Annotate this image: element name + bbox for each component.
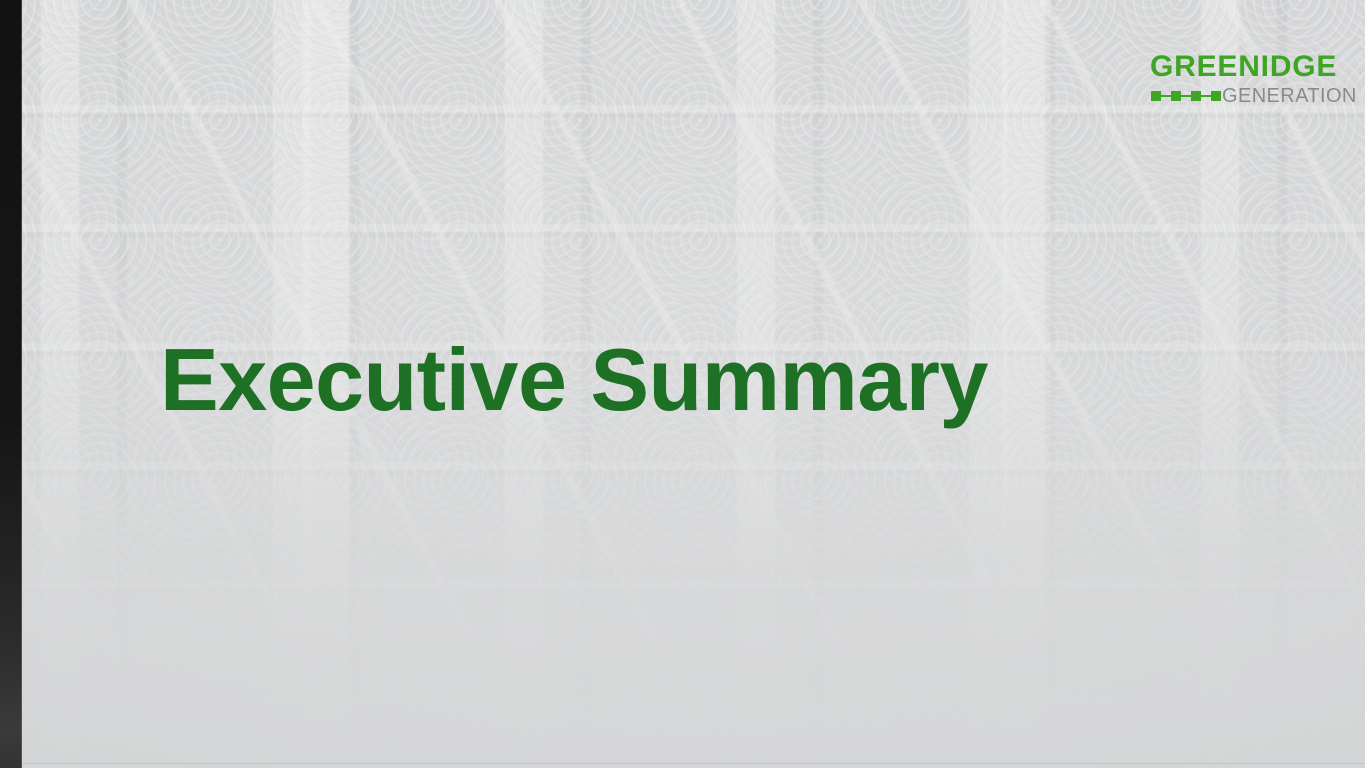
chain-link-icon	[1151, 90, 1225, 102]
left-accent-bar	[0, 0, 22, 768]
greenidge-logo: GREENIDGE GENERATION	[1150, 52, 1322, 106]
logo-wordmark: GREENIDGE	[1150, 52, 1322, 82]
bottom-divider	[22, 763, 1365, 764]
logo-subtitle: GENERATION	[1222, 86, 1357, 106]
presentation-slide: Executive Summary GREENIDGE GENERATION	[0, 0, 1365, 768]
logo-secondary-row: GENERATION	[1150, 86, 1322, 106]
left-accent-bar-edge	[21, 0, 22, 768]
page-title: Executive Summary	[160, 336, 988, 424]
